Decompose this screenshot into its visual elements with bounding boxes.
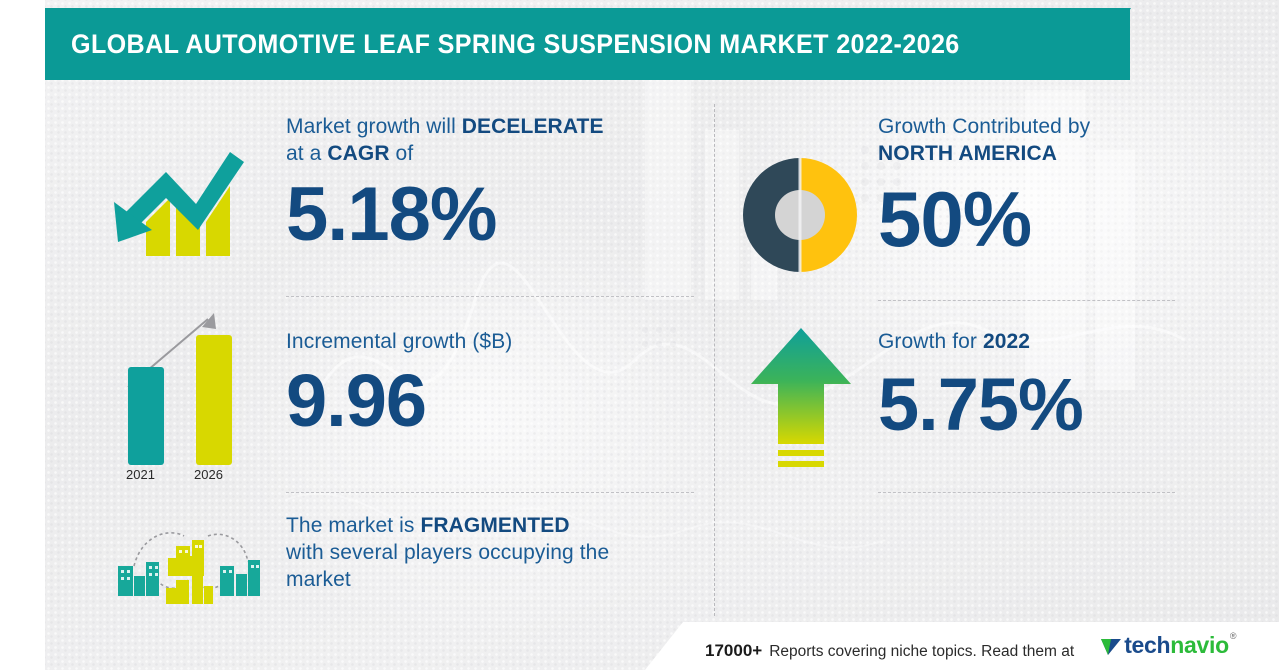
divider-right-2 <box>878 492 1175 493</box>
footer-text: Reports covering niche topics. Read them… <box>769 643 1074 661</box>
cagr-line2-suffix: of <box>390 142 414 165</box>
fragmentation-block: The market is FRAGMENTED with several pl… <box>286 512 686 593</box>
page-title: GLOBAL AUTOMOTIVE LEAF SPRING SUSPENSION… <box>45 29 960 60</box>
banner-corner-fold <box>1085 8 1131 80</box>
incremental-growth-block: Incremental growth ($B) 9.96 <box>286 328 696 439</box>
technavio-logo[interactable]: technavio® <box>1100 632 1235 659</box>
title-banner: GLOBAL AUTOMOTIVE LEAF SPRING SUSPENSION… <box>45 8 1130 80</box>
growth-year-strong: 2022 <box>983 330 1030 353</box>
growth-year-prefix: Growth for <box>878 330 983 353</box>
region-contribution-block: Growth Contributed by NORTH AMERICA 50% <box>878 113 1178 257</box>
divider-right-1 <box>878 300 1175 301</box>
incremental-growth-label: Incremental growth ($B) <box>286 328 696 355</box>
growth-year-value: 5.75% <box>878 367 1178 443</box>
fragmentation-line1-strong: FRAGMENTED <box>420 514 569 537</box>
infographic-canvas: GLOBAL AUTOMOTIVE LEAF SPRING SUSPENSION… <box>0 0 1279 670</box>
growth-year-block: Growth for 2022 5.75% <box>878 328 1178 443</box>
fragmentation-line2: with several players occupying the <box>286 541 609 564</box>
cagr-line2-prefix: at a <box>286 142 327 165</box>
growth-bars-icon: 2021 2026 <box>110 305 242 490</box>
cagr-line2-strong: CAGR <box>327 142 389 165</box>
cagr-description: Market growth will DECELERATE at a CAGR … <box>286 113 696 167</box>
reports-count: 17000+ <box>705 641 762 661</box>
declining-chart-icon <box>112 138 260 261</box>
donut-chart-icon <box>741 156 859 279</box>
footer-bar: 17000+ Reports covering niche topics. Re… <box>645 622 1279 670</box>
growth-year-label: Growth for 2022 <box>878 328 1178 355</box>
bar-label-2026: 2026 <box>194 467 223 482</box>
footer-content: 17000+ Reports covering niche topics. Re… <box>645 631 1236 661</box>
region-name: NORTH AMERICA <box>878 142 1057 165</box>
up-arrow-icon <box>748 322 854 479</box>
cagr-line1-prefix: Market growth will <box>286 115 462 138</box>
divider-left-2 <box>286 492 694 493</box>
cagr-value: 5.18% <box>286 177 696 253</box>
region-description: Growth Contributed by NORTH AMERICA <box>878 113 1178 167</box>
technavio-mark-icon <box>1100 635 1122 657</box>
vertical-divider <box>714 104 715 616</box>
cagr-block: Market growth will DECELERATE at a CAGR … <box>286 113 696 253</box>
city-clusters-icon <box>112 518 264 609</box>
region-line1: Growth Contributed by <box>878 115 1090 138</box>
bar-label-2021: 2021 <box>126 467 155 482</box>
logo-text-navio: navio <box>1170 632 1229 659</box>
divider-left-1 <box>286 296 694 297</box>
fragmentation-line3: market <box>286 568 351 591</box>
fragmentation-line1-prefix: The market is <box>286 514 420 537</box>
region-value: 50% <box>878 181 1178 257</box>
logo-trademark: ® <box>1230 631 1237 641</box>
cagr-line1-strong: DECELERATE <box>462 115 604 138</box>
logo-text-tech: tech <box>1124 632 1170 659</box>
incremental-growth-value: 9.96 <box>286 363 696 439</box>
fragmentation-description: The market is FRAGMENTED with several pl… <box>286 512 686 593</box>
